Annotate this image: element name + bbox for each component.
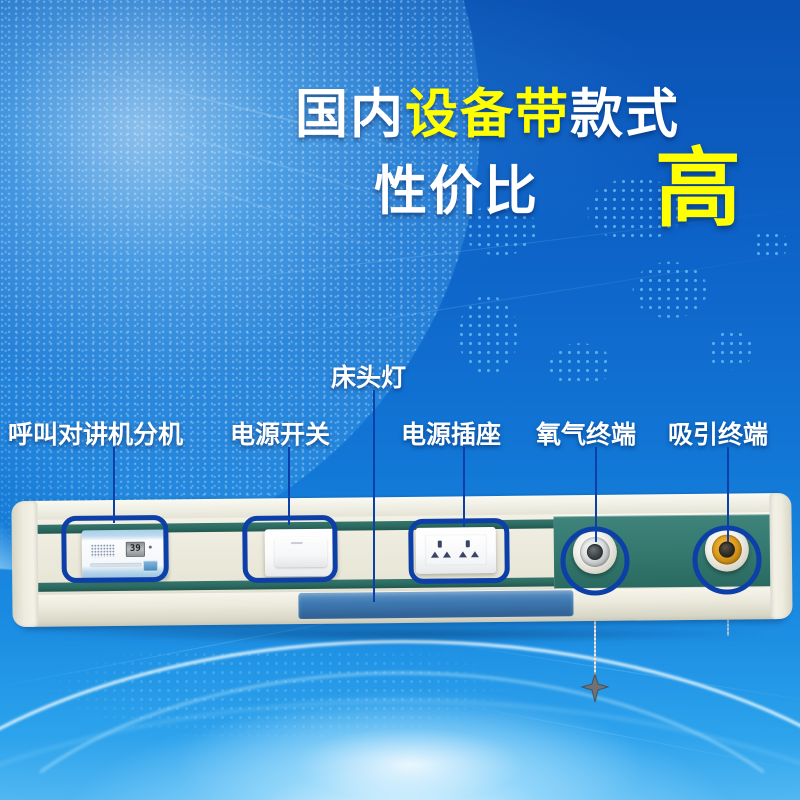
callout-line-power-switch <box>288 447 290 525</box>
callout-label-power-switch: 电源开关 <box>230 415 330 451</box>
headline-line-1: 国内设备带款式 <box>295 88 680 141</box>
callout-line-intercom <box>113 447 115 523</box>
headline-text-shebeidai: 设备带 <box>405 85 570 144</box>
callout-label-power-socket: 电源插座 <box>401 415 501 451</box>
callout-label-oxygen-terminal: 氧气终端 <box>536 415 636 451</box>
callout-label-intercom: 呼叫对讲机分机 <box>8 415 183 451</box>
headline-text-gao: 高 <box>655 146 741 232</box>
headline-text-xingjiabi: 性价比 <box>374 162 539 221</box>
callout-line-power-socket <box>463 447 465 527</box>
headline-text-kuanshi: 款式 <box>570 85 680 144</box>
callout-line-suction-terminal <box>727 447 729 542</box>
callout-label-suction-terminal: 吸引终端 <box>668 415 768 451</box>
headline-text-guonei: 国内 <box>295 85 405 144</box>
highlight-box-power-socket <box>411 520 508 581</box>
headline-line-2: 性价比 <box>374 165 539 218</box>
highlight-box-intercom <box>64 517 167 580</box>
callout-label-bed-lamp: 床头灯 <box>331 358 406 394</box>
callout-line-oxygen-terminal <box>595 447 597 542</box>
banner-stage: 国内设备带款式 性价比 高 呼叫对讲机分机 电源开关 床头灯 电源插座 氧气终端… <box>0 0 800 800</box>
highlight-box-power-switch <box>245 518 336 581</box>
callout-line-bed-lamp <box>373 390 375 602</box>
